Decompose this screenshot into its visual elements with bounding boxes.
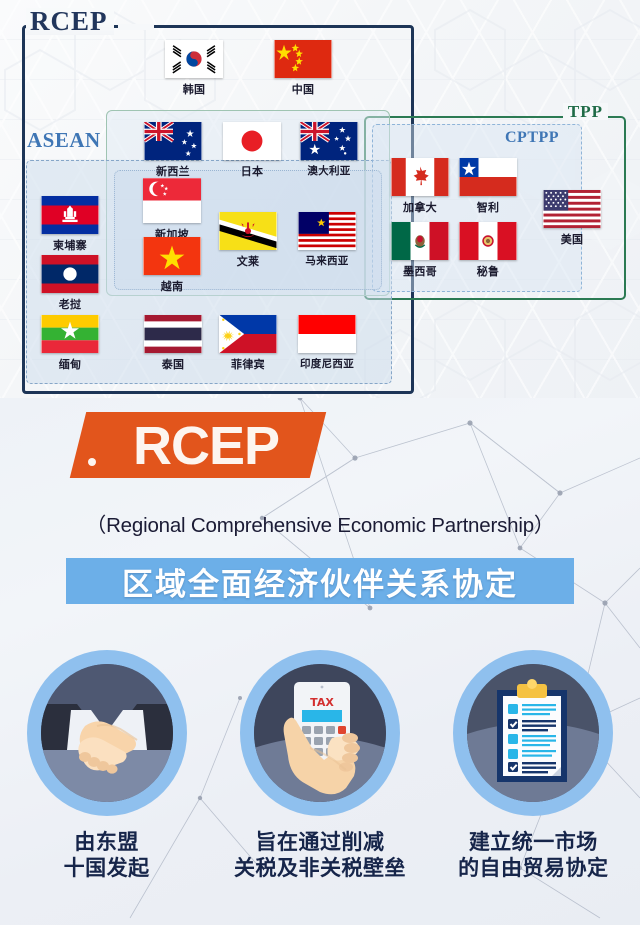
flag-cell-australia: 澳大利亚 xyxy=(290,122,368,178)
flag-cell-thailand: 泰国 xyxy=(141,315,205,372)
flag-cell-cambodia: 柬埔寨 xyxy=(38,196,102,253)
chinese-title-text: 区域全面经济伙伴关系协定 xyxy=(66,558,574,604)
flag-laos-icon xyxy=(41,255,99,293)
feature-row: 由东盟 十国发起 TAX xyxy=(0,650,640,920)
feature-caption-1: 由东盟 十国发起 xyxy=(7,830,207,883)
flag-label-usa: 美国 xyxy=(540,231,604,247)
feature-circle-inner-1 xyxy=(41,664,173,802)
flag-cell-canada: 加拿大 xyxy=(388,158,452,215)
flag-cell-japan: 日本 xyxy=(220,122,284,179)
tax-calculator-icon: TAX xyxy=(254,664,386,802)
flag-label-malaysia: 马来西亚 xyxy=(288,253,366,268)
flag-thailand-icon xyxy=(144,315,202,353)
handshake-icon xyxy=(41,664,173,802)
flag-cell-singapore: 新加坡 xyxy=(140,178,204,242)
flag-label-china: 中国 xyxy=(271,81,335,97)
flag-canada-icon xyxy=(391,158,449,196)
flag-malaysia-icon xyxy=(298,212,356,250)
flag-indonesia-icon xyxy=(298,315,356,353)
flag-china-icon xyxy=(274,40,332,78)
flag-usa-icon xyxy=(543,190,601,228)
flag-label-thailand: 泰国 xyxy=(141,356,205,372)
flag-label-korea: 韩国 xyxy=(162,81,226,97)
group-label-tpp: TPP xyxy=(563,103,608,120)
flag-cambodia-icon xyxy=(41,196,99,234)
group-label-rcep: RCEP xyxy=(26,8,114,35)
flag-label-japan: 日本 xyxy=(220,163,284,179)
flag-japan-icon xyxy=(223,122,281,160)
feature-circle-3 xyxy=(453,650,613,816)
flag-new-zealand-icon xyxy=(144,122,202,160)
flag-cell-indonesia: 印度尼西亚 xyxy=(288,315,366,371)
flag-label-brunei: 文莱 xyxy=(216,253,280,269)
flag-cell-vietnam: 越南 xyxy=(140,237,204,294)
poster-root: RCEP TPP CPTPP ASEAN xyxy=(0,0,640,925)
flag-label-chile: 智利 xyxy=(456,199,520,215)
feature-circle-2: TAX xyxy=(240,650,400,816)
flag-label-vietnam: 越南 xyxy=(140,278,204,294)
flag-cell-chile: 智利 xyxy=(456,158,520,215)
feature-item-clipboard: 建立统一市场 的自由贸易协定 xyxy=(433,650,633,883)
feature-caption-3: 建立统一市场 的自由贸易协定 xyxy=(433,830,633,883)
flag-korea-icon xyxy=(165,40,223,78)
flag-brunei-icon xyxy=(219,212,277,250)
flag-label-indonesia: 印度尼西亚 xyxy=(288,356,366,371)
flag-cell-usa: 美国 xyxy=(540,190,604,247)
english-subtitle: （Regional Comprehensive Economic Partner… xyxy=(0,508,640,538)
flag-cell-korea: 韩国 xyxy=(162,40,226,97)
flag-label-laos: 老挝 xyxy=(38,296,102,312)
flag-label-australia: 澳大利亚 xyxy=(290,163,368,178)
feature-item-handshake: 由东盟 十国发起 xyxy=(7,650,207,883)
flag-australia-icon xyxy=(300,122,358,160)
flag-cell-laos: 老挝 xyxy=(38,255,102,312)
flag-cell-china: 中国 xyxy=(271,40,335,97)
flag-label-peru: 秘鲁 xyxy=(456,263,520,279)
flag-label-new-zealand: 新西兰 xyxy=(141,163,205,179)
group-label-cptpp: CPTPP xyxy=(505,130,559,146)
rcep-banner-text: RCEP xyxy=(86,414,326,478)
clipboard-checklist-icon xyxy=(467,664,599,802)
flag-chile-icon xyxy=(459,158,517,196)
hero-panel: RCEP （Regional Comprehensive Economic Pa… xyxy=(0,398,640,925)
flag-peru-icon xyxy=(459,222,517,260)
flag-label-philippines: 菲律宾 xyxy=(216,356,280,372)
flag-label-myanmar: 缅甸 xyxy=(38,356,102,372)
flag-cell-brunei: 文莱 xyxy=(216,212,280,269)
flag-label-canada: 加拿大 xyxy=(388,199,452,215)
feature-caption-2: 旨在通过削减 关税及非关税壁垒 xyxy=(220,830,420,883)
flag-mexico-icon xyxy=(391,222,449,260)
flag-cell-mexico: 墨西哥 xyxy=(388,222,452,279)
flag-philippines-icon xyxy=(219,315,277,353)
feature-circle-inner-2: TAX xyxy=(254,664,386,802)
group-label-asean: ASEAN xyxy=(27,130,101,151)
feature-circle-1 xyxy=(27,650,187,816)
flag-cell-myanmar: 缅甸 xyxy=(38,315,102,372)
flag-myanmar-icon xyxy=(41,315,99,353)
feature-item-tax: TAX xyxy=(220,650,420,883)
flag-vietnam-icon xyxy=(143,237,201,275)
flag-cell-peru: 秘鲁 xyxy=(456,222,520,279)
flag-cell-new-zealand: 新西兰 xyxy=(141,122,205,179)
flag-cell-philippines: 菲律宾 xyxy=(216,315,280,372)
flag-cell-malaysia: 马来西亚 xyxy=(288,212,366,268)
flag-singapore-icon xyxy=(143,178,201,223)
feature-circle-inner-3 xyxy=(467,664,599,802)
rcep-border-gap xyxy=(118,24,154,30)
flag-label-mexico: 墨西哥 xyxy=(388,263,452,279)
svg-text:TAX: TAX xyxy=(310,696,334,709)
flags-diagram-panel: RCEP TPP CPTPP ASEAN xyxy=(0,0,640,400)
flag-label-cambodia: 柬埔寨 xyxy=(38,237,102,253)
